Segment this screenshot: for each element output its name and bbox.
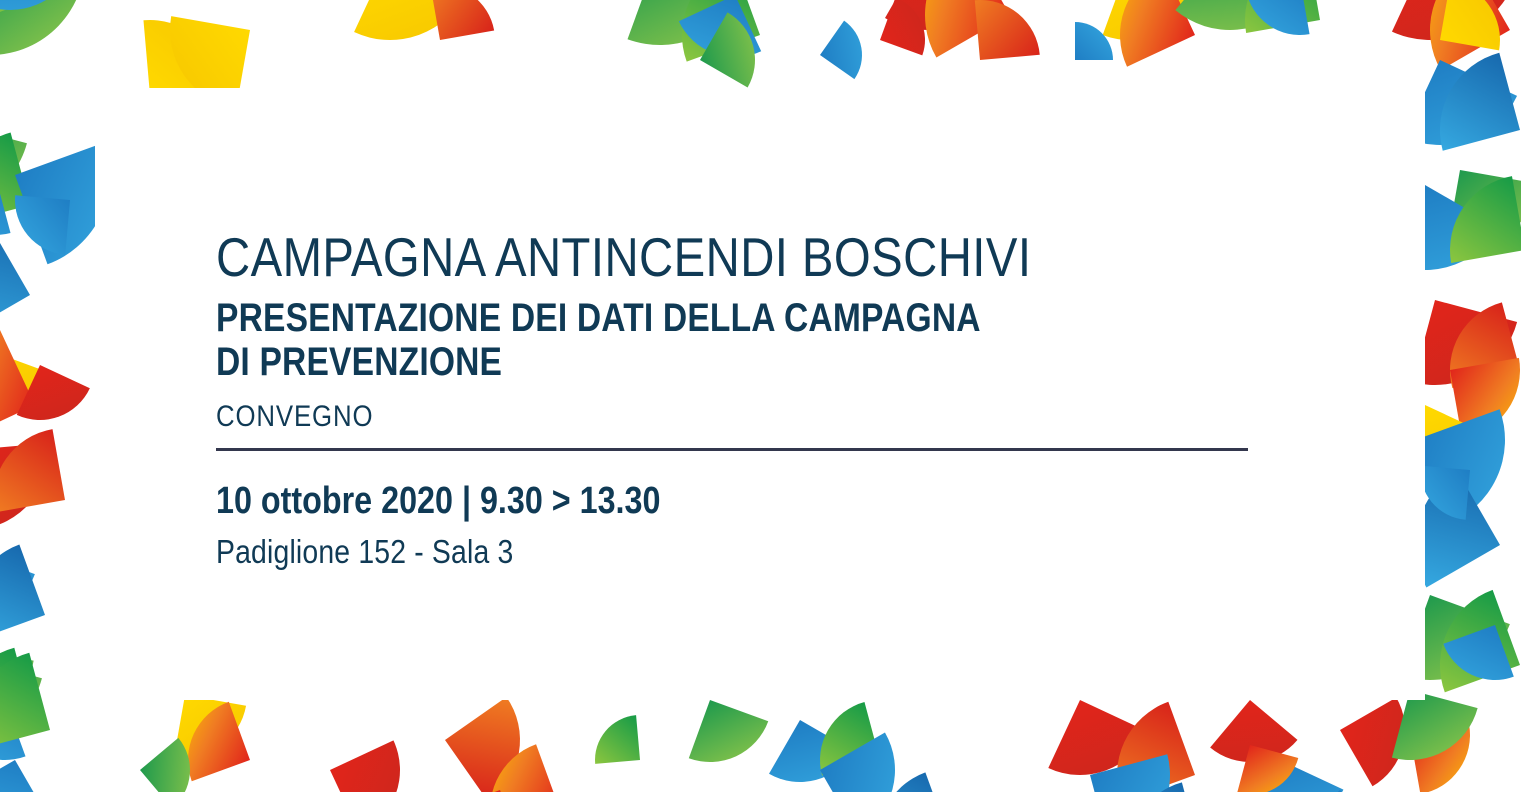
event-datetime: 10 ottobre 2020 | 9.30 > 13.30 [216,479,1151,523]
poster-content: CAMPAGNA ANTINCENDI BOSCHIVI PRESENTAZIO… [216,226,1316,571]
poster-subtitle: PRESENTAZIONE DEI DATI DELLA CAMPAGNA DI… [216,296,1140,384]
poster-subtitle-line-1: PRESENTAZIONE DEI DATI DELLA CAMPAGNA [216,296,1140,340]
event-location: Padiglione 152 - Sala 3 [216,533,1162,571]
poster-subtitle-line-2: DI PREVENZIONE [216,340,1140,384]
event-type-label: CONVEGNO [216,400,1162,434]
page-title: CAMPAGNA ANTINCENDI BOSCHIVI [216,226,1162,288]
poster-root: CAMPAGNA ANTINCENDI BOSCHIVI PRESENTAZIO… [0,0,1521,792]
divider [216,448,1248,451]
